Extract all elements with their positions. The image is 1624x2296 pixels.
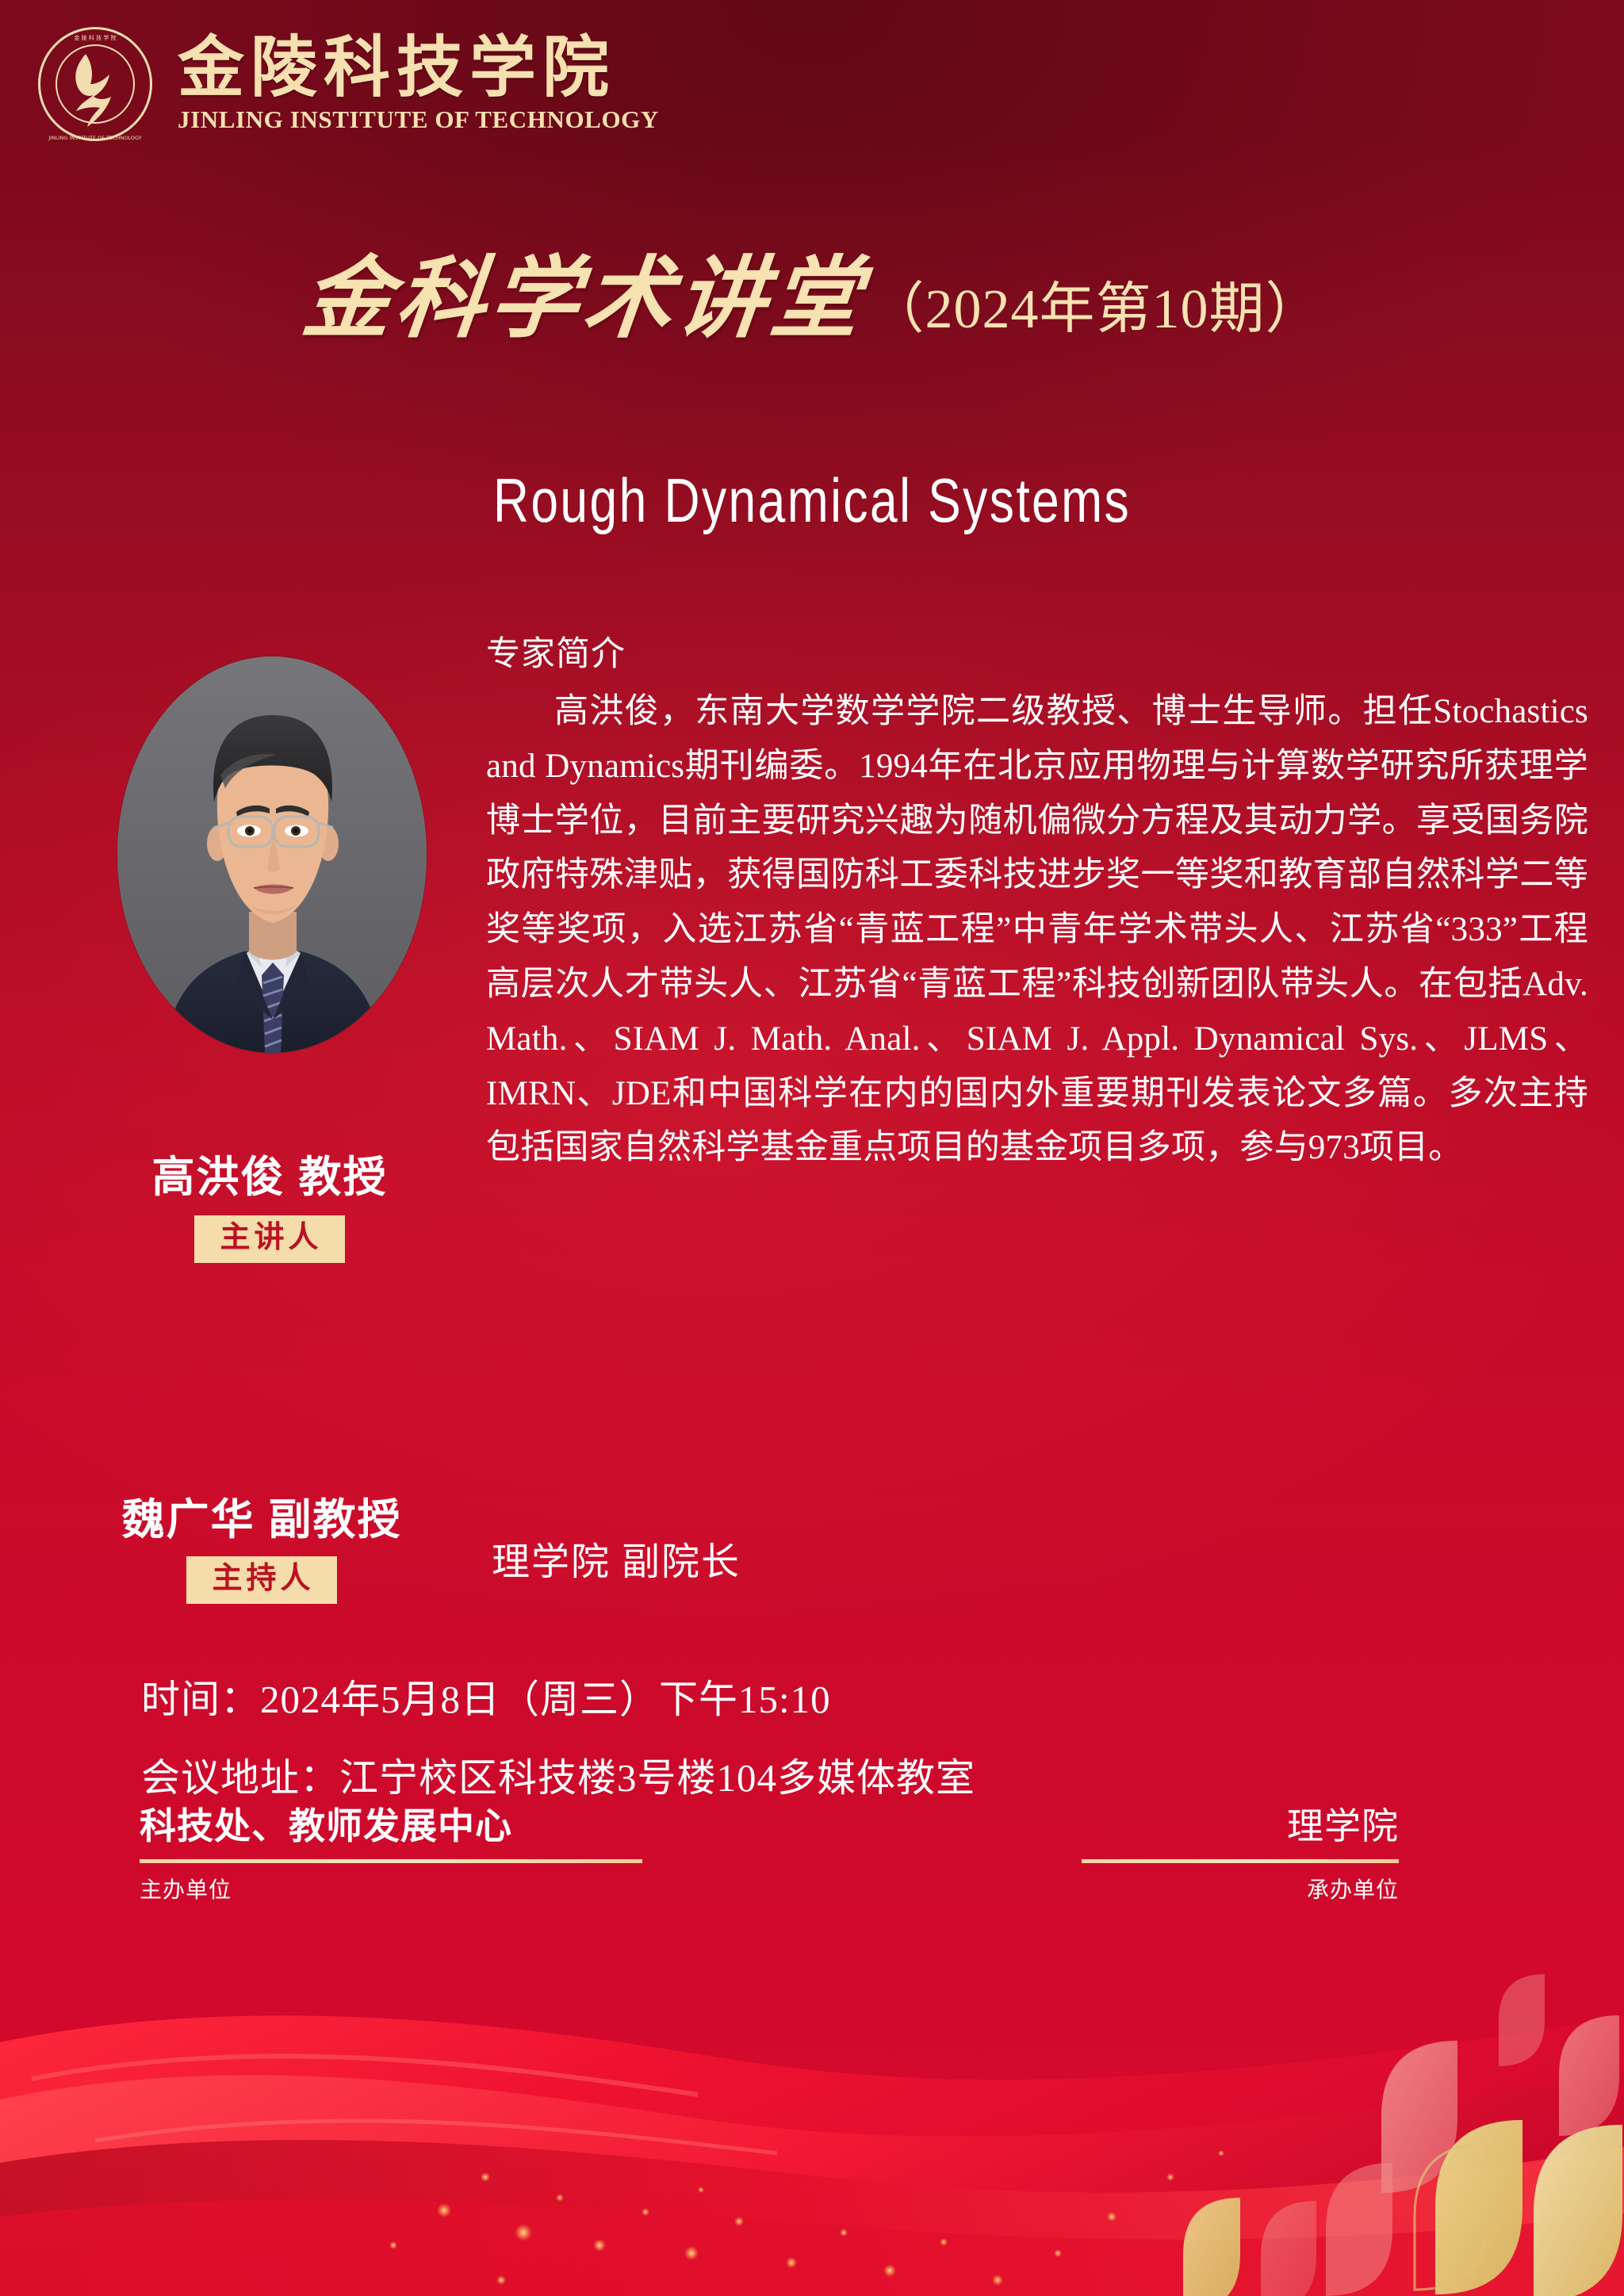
avatar bbox=[117, 656, 427, 1053]
host-badge-row: 主持人 bbox=[32, 1556, 492, 1604]
title-main-cn: 金科学术讲堂 bbox=[298, 255, 869, 344]
co-organization-label: 承办单位 bbox=[1082, 1873, 1399, 1904]
poster-root: 金 陵 科 技 学 院 JINLING INSTITUTE OF TECHNOL… bbox=[0, 0, 1624, 2296]
bio-body: 高洪俊，东南大学数学学院二级教授、博士生导师。担任Stochastics and… bbox=[486, 685, 1588, 1176]
host-role: 理学院 副院长 bbox=[492, 1530, 741, 1586]
university-seal-icon: 金 陵 科 技 学 院 JINLING INSTITUTE OF TECHNOL… bbox=[35, 24, 155, 144]
co-organization: 理学院 承办单位 bbox=[1082, 1804, 1399, 1904]
status-badge-host: 主持人 bbox=[186, 1556, 336, 1604]
svg-text:JINLING INSTITUTE OF TECHNOLOG: JINLING INSTITUTE OF TECHNOLOGY bbox=[48, 135, 141, 141]
divider bbox=[140, 1859, 642, 1863]
speaker-badge-row: 主讲人 bbox=[48, 1215, 492, 1263]
host-organization: 科技处、教师发展中心 主办单位 bbox=[140, 1804, 647, 1904]
speaker-bio: 专家简介 高洪俊，东南大学数学学院二级教授、博士生导师。担任Stochastic… bbox=[486, 626, 1588, 1176]
event-venue: 会议地址：江宁校区科技楼3号楼104多媒体教室 bbox=[141, 1747, 975, 1803]
host-organization-label: 主办单位 bbox=[140, 1873, 647, 1904]
brand-logo: 金 陵 科 技 学 院 JINLING INSTITUTE OF TECHNOL… bbox=[35, 24, 659, 144]
bio-heading: 专家简介 bbox=[486, 626, 1588, 675]
poster-title: 金科学术讲堂 （2024年第10期） bbox=[0, 255, 1624, 344]
divider bbox=[1082, 1859, 1399, 1863]
svg-text:金 陵 科 技 学 院: 金 陵 科 技 学 院 bbox=[74, 34, 116, 41]
title-issue-number: （2024年第10期） bbox=[869, 282, 1322, 344]
speaker-photo-frame bbox=[117, 656, 427, 1053]
brand-name-en: JINLING INSTITUTE OF TECHNOLOGY bbox=[178, 105, 659, 134]
event-details: 时间：2024年5月8日（周三）下午15:10 会议地址：江宁校区科技楼3号楼1… bbox=[141, 1668, 975, 1825]
title-subtitle-en: Rough Dynamical Systems bbox=[163, 465, 1461, 537]
brand-name-cn: 金陵科技学院 bbox=[178, 34, 659, 104]
host-organization-name: 科技处、教师发展中心 bbox=[140, 1804, 647, 1848]
speaker-name: 高洪俊 教授 bbox=[48, 1142, 492, 1204]
host-name: 魏广华 副教授 bbox=[32, 1484, 492, 1547]
co-organization-name: 理学院 bbox=[1082, 1804, 1399, 1848]
event-time: 时间：2024年5月8日（周三）下午15:10 bbox=[141, 1668, 975, 1724]
status-badge-speaker: 主讲人 bbox=[194, 1215, 344, 1263]
